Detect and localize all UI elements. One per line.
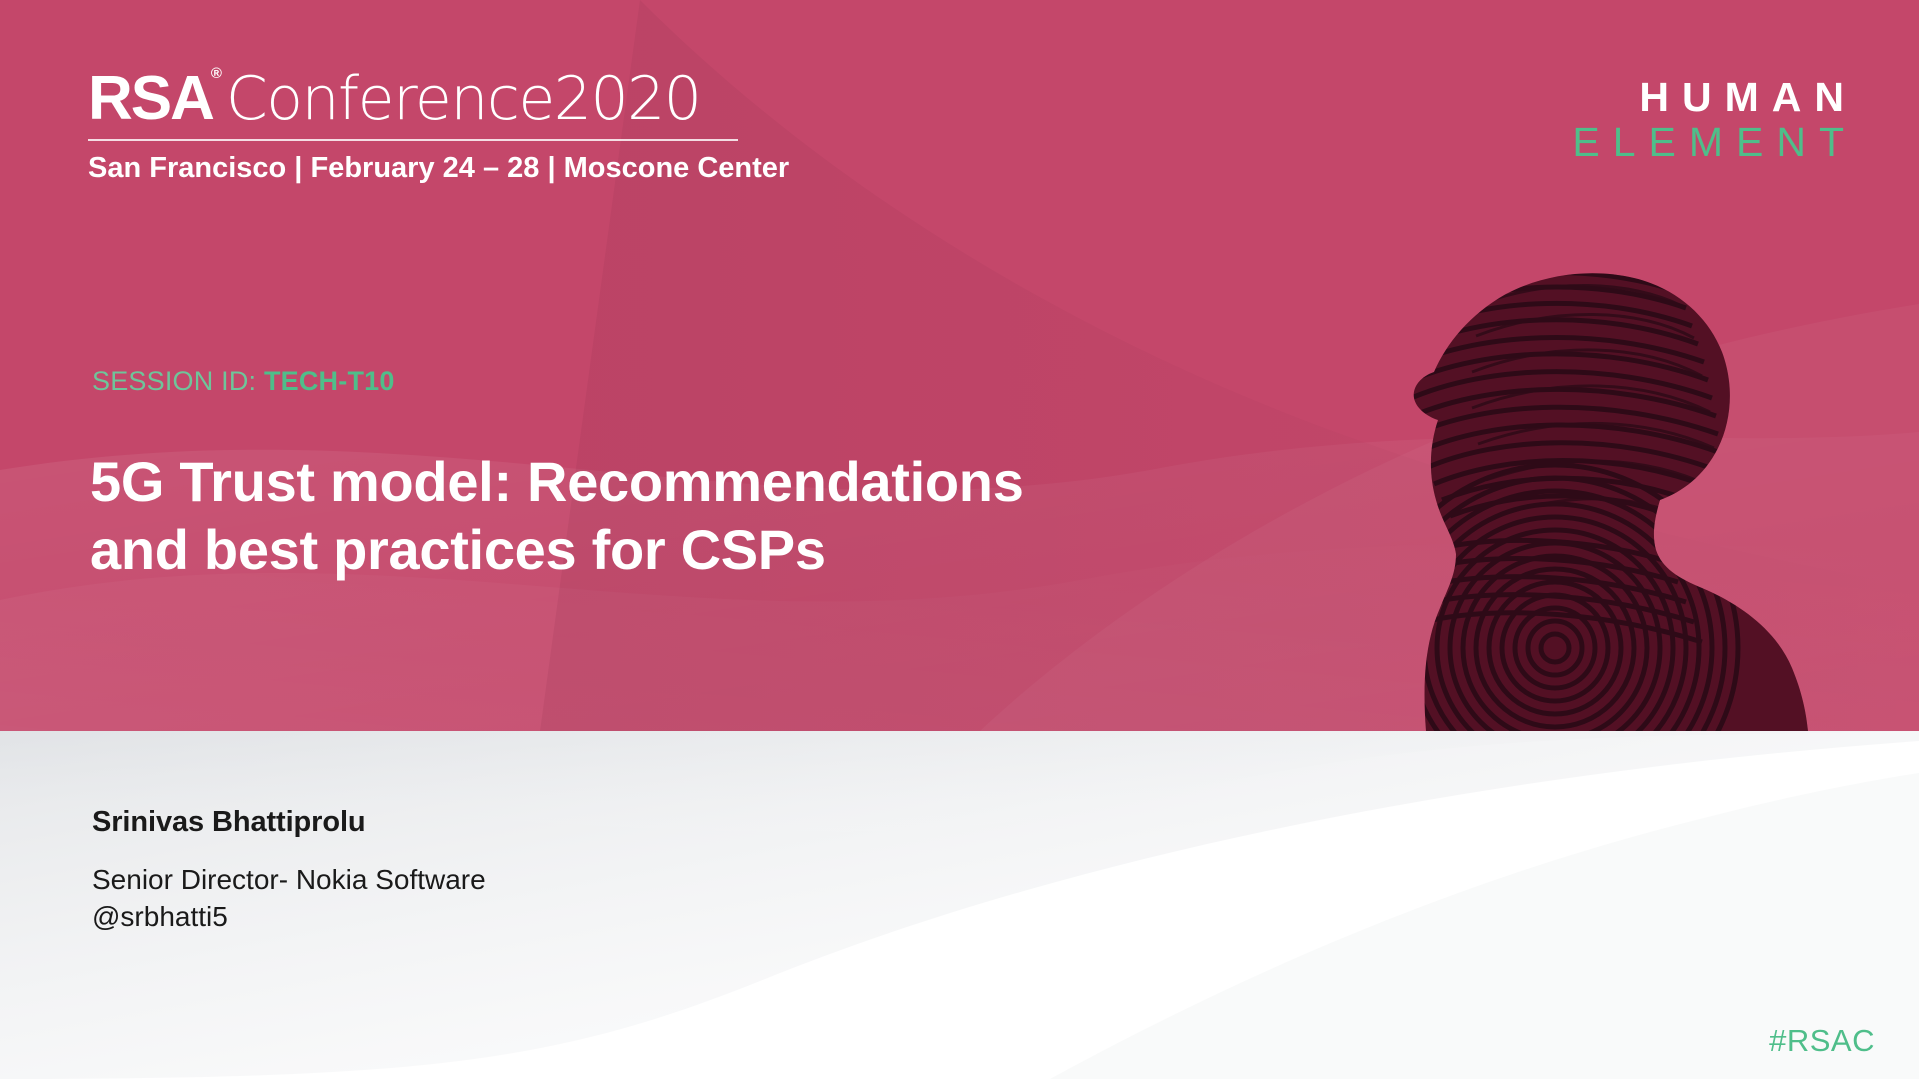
rsa-wordmark: RSA ® (88, 68, 213, 130)
rsa-mark-text: RSA (88, 64, 213, 133)
human-element-line-1: HUMAN (1572, 76, 1857, 119)
rsa-conference-logo: RSA ® Conference2020 San Francisco | Feb… (88, 68, 748, 185)
human-element-logo: HUMAN ELEMENT (1572, 76, 1857, 166)
session-id-code: TECH-T10 (264, 366, 395, 396)
slide-title-line-2: and best practices for CSPs (90, 516, 1110, 584)
logo-divider (88, 139, 738, 141)
rsa-logo-line: RSA ® Conference2020 (88, 68, 748, 130)
event-hashtag: #RSAC (1769, 1023, 1875, 1059)
fingerprint-portrait-svg (1330, 248, 1830, 731)
presentation-slide: RSA ® Conference2020 San Francisco | Feb… (0, 0, 1919, 1079)
conference-tagline: San Francisco | February 24 – 28 | Mosco… (88, 152, 748, 185)
fingerprint-portrait-image (1330, 248, 1830, 731)
registered-trademark-icon: ® (211, 66, 222, 81)
slide-title-line-1: 5G Trust model: Recommendations (90, 448, 1110, 516)
session-id: SESSION ID: TECH-T10 (92, 366, 395, 397)
human-element-line-2: ELEMENT (1572, 119, 1857, 166)
slide-title: 5G Trust model: Recommendations and best… (90, 448, 1110, 585)
conference-year-wordmark: Conference2020 (226, 69, 701, 129)
speaker-social-handle: @srbhatti5 (92, 898, 486, 935)
session-id-label: SESSION ID: (92, 366, 256, 396)
speaker-block: Srinivas Bhattiprolu Senior Director- No… (92, 806, 486, 935)
speaker-name: Srinivas Bhattiprolu (92, 806, 486, 839)
speaker-role: Senior Director- Nokia Software (92, 861, 486, 898)
